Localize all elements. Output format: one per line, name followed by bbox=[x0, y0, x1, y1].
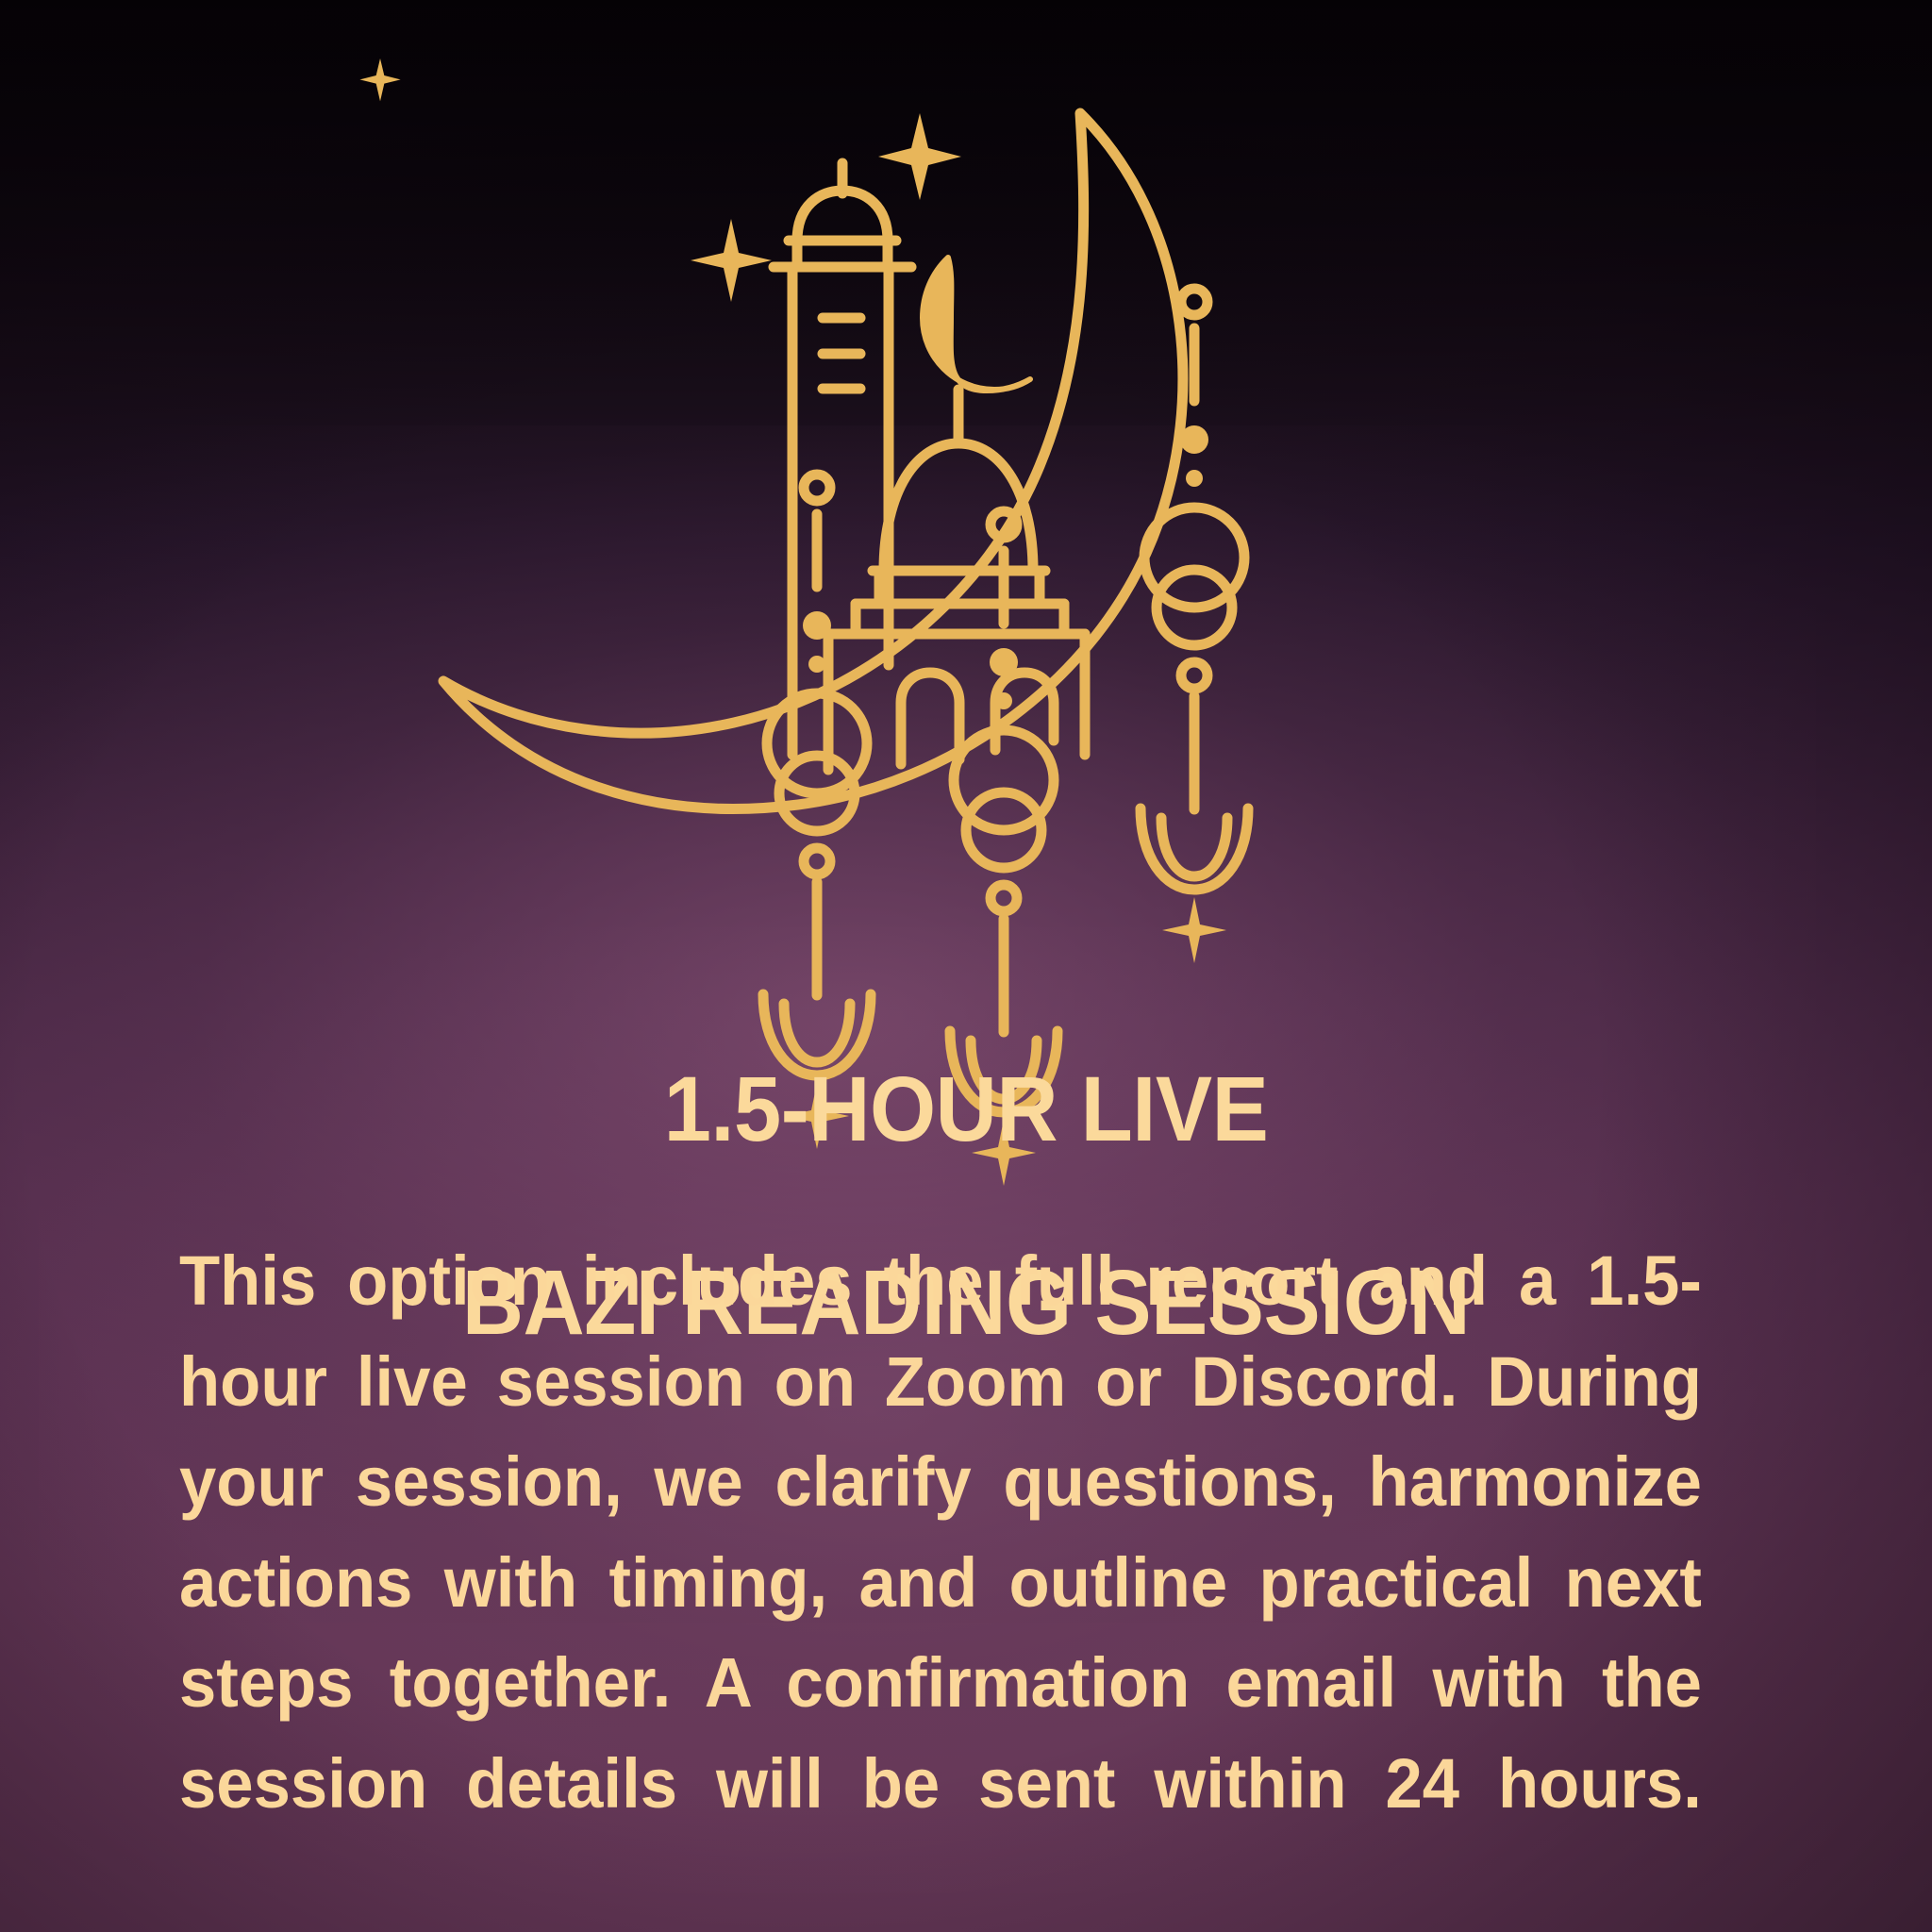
promo-poster: 1.5-HOUR LIVE BAZI READING SESSION This … bbox=[0, 0, 1932, 1932]
description-paragraph: This option includes the full report and… bbox=[179, 1231, 1702, 1932]
page-title-line-1: 1.5-HOUR LIVE bbox=[68, 1061, 1865, 1158]
